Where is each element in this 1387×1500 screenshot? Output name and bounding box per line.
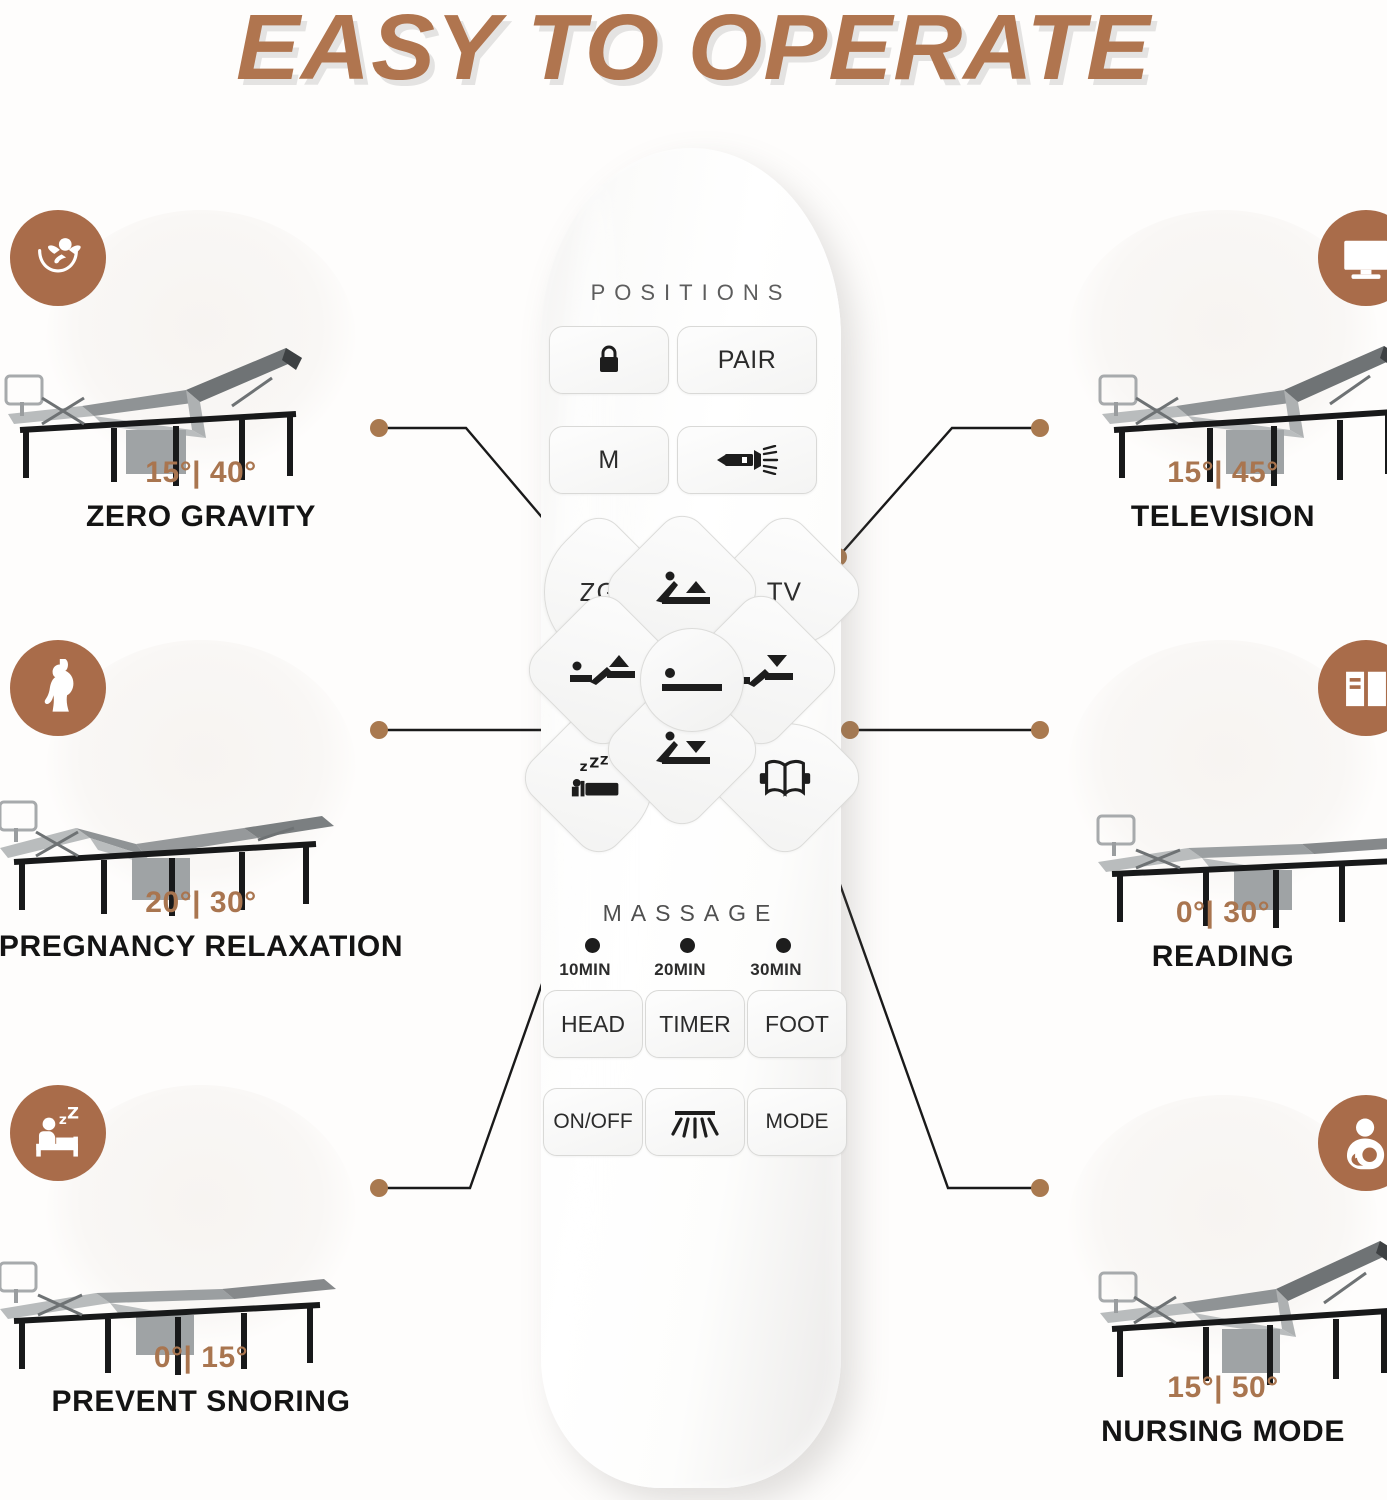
massage-section-label: MASSAGE bbox=[481, 900, 901, 927]
reading-position-icon bbox=[754, 755, 816, 801]
degrees-label: 0°| 15° bbox=[0, 1341, 416, 1374]
led-30min bbox=[776, 938, 791, 953]
degrees-label: 15°| 50° bbox=[1008, 1371, 1387, 1404]
feature-name: ZERO GRAVITY bbox=[0, 498, 416, 536]
page-title: EASY TO OPERATE bbox=[0, 0, 1387, 101]
remote-control: POSITIONS PAIR M bbox=[481, 148, 901, 1498]
led-20min bbox=[680, 938, 695, 953]
led-label-20min: 20MIN bbox=[635, 960, 725, 980]
feature-name: TELEVISION bbox=[1008, 498, 1387, 536]
massage-onoff-button[interactable]: ON/OFF bbox=[543, 1088, 643, 1156]
caption-pregnancy-relaxation: 20°| 30° PREGNANCY RELAXATION bbox=[0, 886, 416, 966]
svg-text:Z: Z bbox=[67, 1104, 79, 1123]
zero-gravity-icon bbox=[10, 210, 106, 306]
led-10min bbox=[585, 938, 600, 953]
positions-section-label: POSITIONS bbox=[481, 280, 901, 306]
bed-illustration-nursing bbox=[1088, 1207, 1387, 1387]
feature-name: PREVENT SNORING bbox=[0, 1383, 416, 1421]
massage-head-button[interactable]: HEAD bbox=[543, 990, 643, 1058]
caption-reading: 0°| 30° READING bbox=[1008, 896, 1387, 976]
feature-name: PREGNANCY RELAXATION bbox=[0, 928, 416, 966]
svg-text:z: z bbox=[580, 759, 589, 775]
foot-up-icon bbox=[565, 647, 641, 693]
head-up-icon bbox=[644, 567, 720, 613]
flashlight-button[interactable] bbox=[677, 426, 817, 494]
degrees-label: 15°| 40° bbox=[0, 456, 416, 489]
feature-name: READING bbox=[1008, 938, 1387, 976]
pair-button[interactable]: PAIR bbox=[677, 326, 817, 394]
caption-prevent-snoring: 0°| 15° PREVENT SNORING bbox=[0, 1341, 416, 1421]
degrees-label: 15°| 45° bbox=[1008, 456, 1387, 489]
lock-button[interactable] bbox=[549, 326, 669, 394]
under-bed-light-icon bbox=[667, 1102, 723, 1142]
infographic-stage: EASY TO OPERATE bbox=[0, 0, 1387, 1500]
massage-foot-button[interactable]: FOOT bbox=[747, 990, 847, 1058]
pregnant-woman-icon bbox=[10, 640, 106, 736]
memory-button[interactable]: M bbox=[549, 426, 669, 494]
under-bed-light-button[interactable] bbox=[645, 1088, 745, 1156]
degrees-label: 20°| 30° bbox=[0, 886, 416, 919]
svg-text:Z: Z bbox=[589, 755, 600, 771]
caption-television: 15°| 45° TELEVISION bbox=[1008, 456, 1387, 536]
led-label-10min: 10MIN bbox=[540, 960, 630, 980]
massage-timer-button[interactable]: TIMER bbox=[645, 990, 745, 1058]
feature-name: NURSING MODE bbox=[1008, 1413, 1387, 1451]
lock-icon bbox=[595, 344, 623, 376]
caption-zero-gravity: 15°| 40° ZERO GRAVITY bbox=[0, 456, 416, 536]
flat-position-button[interactable] bbox=[640, 628, 744, 732]
sleeping-person-bed-icon: z Z bbox=[10, 1085, 106, 1181]
flashlight-icon bbox=[715, 445, 779, 475]
svg-text:z: z bbox=[59, 1112, 67, 1128]
led-label-30min: 30MIN bbox=[731, 960, 821, 980]
massage-mode-button[interactable]: MODE bbox=[747, 1088, 847, 1156]
head-down-icon bbox=[644, 727, 720, 773]
remote-face: POSITIONS PAIR M bbox=[481, 148, 901, 1498]
flat-position-icon bbox=[657, 660, 727, 700]
caption-nursing-mode: 15°| 50° NURSING MODE bbox=[1008, 1371, 1387, 1451]
degrees-label: 0°| 30° bbox=[1008, 896, 1387, 929]
